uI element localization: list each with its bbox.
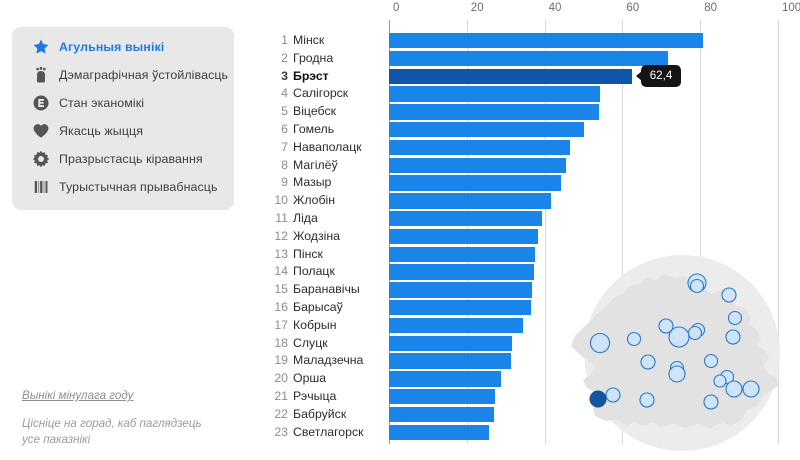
row-bar[interactable] — [389, 69, 632, 84]
row-bar[interactable] — [389, 282, 532, 297]
previous-year-link[interactable]: Вынікі мінулага году — [22, 389, 133, 402]
x-tick-label: 60 — [626, 2, 639, 14]
map-dot[interactable] — [640, 393, 654, 407]
row-bar[interactable] — [389, 371, 501, 386]
sidebar-item-label: Якасць жыцця — [59, 124, 143, 138]
row-bar[interactable] — [389, 300, 531, 315]
row-rank: 22 — [262, 406, 288, 424]
row-bar[interactable] — [389, 336, 512, 351]
row-city-name: Магілёў — [293, 157, 338, 175]
chart-row[interactable]: 12Жодзіна — [262, 228, 800, 246]
row-city-name: Баранавічы — [293, 281, 360, 299]
sidebar-item-label: Агульныя вынікі — [59, 40, 164, 54]
value-tooltip: 62,4 — [641, 65, 682, 87]
sidebar-item-label: Турыстычная прывабнасць — [59, 180, 218, 194]
sidebar-nav: Агульныя вынікіДэмаграфічная ўстойлівасц… — [12, 27, 234, 201]
row-rank: 9 — [262, 174, 288, 192]
row-bar[interactable] — [389, 211, 542, 226]
row-bar[interactable] — [389, 389, 495, 404]
sidebar-item-quality[interactable]: Якасць жыцця — [12, 117, 234, 145]
click-city-hint: Ціснiце на горад, каб паглядзець усе пак… — [22, 416, 212, 447]
row-rank: 10 — [262, 192, 288, 210]
x-tick-label: 20 — [471, 2, 484, 14]
map-dot[interactable] — [641, 355, 655, 369]
map-dot[interactable] — [628, 333, 641, 346]
star-icon — [31, 38, 50, 57]
sidebar-item-label: Стан эканомікі — [59, 96, 144, 110]
row-city-name: Наваполацк — [293, 139, 362, 157]
row-bar[interactable] — [389, 247, 535, 262]
row-city-name: Светлагорск — [293, 424, 364, 442]
x-axis-ticks: 020406080100 — [389, 0, 800, 20]
map-dot[interactable] — [705, 355, 718, 368]
row-city-name: Віцебск — [293, 103, 336, 121]
map-svg — [565, 250, 800, 460]
columns-icon — [31, 178, 50, 197]
row-city-name: Брэст — [293, 68, 329, 86]
row-rank: 4 — [262, 85, 288, 103]
economy-e-icon — [31, 94, 50, 113]
row-rank: 12 — [262, 228, 288, 246]
map-dot[interactable] — [714, 375, 726, 387]
row-rank: 17 — [262, 317, 288, 335]
sidebar-item-governance[interactable]: Празрыстасць кіравання — [12, 145, 234, 173]
row-bar[interactable] — [389, 51, 668, 66]
x-tick-label: 0 — [393, 2, 399, 14]
chart-row[interactable]: 7Наваполацк — [262, 139, 800, 157]
map-dot[interactable] — [726, 330, 740, 344]
row-rank: 5 — [262, 103, 288, 121]
heart-icon — [31, 122, 50, 141]
row-rank: 14 — [262, 263, 288, 281]
map-dot[interactable] — [669, 327, 689, 347]
row-bar[interactable] — [389, 407, 494, 422]
row-rank: 13 — [262, 246, 288, 264]
x-tick-label: 100 — [782, 2, 800, 14]
map-dot[interactable] — [691, 280, 704, 293]
map-dot[interactable] — [591, 334, 610, 353]
row-bar[interactable] — [389, 425, 489, 440]
row-city-name: Кобрын — [293, 317, 337, 335]
row-city-name: Жлобін — [293, 192, 335, 210]
chart-row[interactable]: 9Мазыр — [262, 174, 800, 192]
row-rank: 20 — [262, 370, 288, 388]
people-icon — [31, 66, 50, 85]
row-bar[interactable] — [389, 318, 523, 333]
chart-row[interactable]: 3Брэст — [262, 68, 800, 86]
row-bar[interactable] — [389, 229, 538, 244]
row-city-name: Слуцк — [293, 335, 328, 353]
map-dot[interactable] — [689, 327, 702, 340]
row-rank: 15 — [262, 281, 288, 299]
row-bar[interactable] — [389, 158, 566, 173]
map-dot[interactable] — [743, 381, 759, 397]
sidebar-item-tourism[interactable]: Турыстычная прывабнасць — [12, 173, 234, 201]
row-rank: 6 — [262, 121, 288, 139]
row-rank: 8 — [262, 157, 288, 175]
row-city-name: Полацк — [293, 263, 335, 281]
row-bar[interactable] — [389, 193, 551, 208]
tooltip-arrow — [636, 71, 642, 81]
row-city-name: Ліда — [293, 210, 318, 228]
row-rank: 2 — [262, 50, 288, 68]
sidebar-footer: Вынікі мінулага году Ціснiце на горад, к… — [22, 386, 237, 447]
chart-row[interactable]: 10Жлобін — [262, 192, 800, 210]
map-dot[interactable] — [704, 395, 718, 409]
chart-row[interactable]: 5Віцебск — [262, 103, 800, 121]
row-city-name: Мінск — [293, 32, 324, 50]
row-rank: 23 — [262, 424, 288, 442]
chart-row[interactable]: 6Гомель — [262, 121, 800, 139]
row-city-name: Салігорск — [293, 85, 348, 103]
row-bar[interactable] — [389, 122, 584, 137]
row-bar[interactable] — [389, 33, 703, 48]
row-city-name: Барысаў — [293, 299, 343, 317]
map-dot[interactable] — [729, 312, 742, 325]
map-dot[interactable] — [722, 288, 736, 302]
row-city-name: Жодзіна — [293, 228, 340, 246]
map-dot[interactable] — [726, 381, 742, 397]
chart-row[interactable]: 4Салігорск — [262, 85, 800, 103]
row-bar[interactable] — [389, 353, 511, 368]
map-dot[interactable] — [606, 388, 620, 402]
row-rank: 21 — [262, 388, 288, 406]
row-rank: 18 — [262, 335, 288, 353]
row-bar[interactable] — [389, 104, 599, 119]
row-bar[interactable] — [389, 140, 570, 155]
x-tick-label: 40 — [549, 2, 562, 14]
row-city-name: Мазыр — [293, 174, 331, 192]
chart-row[interactable]: 8Магілёў — [262, 157, 800, 175]
chart-row[interactable]: 11Ліда — [262, 210, 800, 228]
row-bar[interactable] — [389, 264, 534, 279]
row-rank: 19 — [262, 352, 288, 370]
x-tick-label: 80 — [704, 2, 717, 14]
sidebar-item-demography[interactable]: Дэмаграфічная ўстойлівасць — [12, 61, 234, 89]
map-dot-selected[interactable] — [590, 391, 606, 407]
chart-row[interactable]: 1Мінск — [262, 32, 800, 50]
sidebar-panel: Агульныя вынікіДэмаграфічная ўстойлівасц… — [12, 27, 234, 210]
row-rank: 11 — [262, 210, 288, 228]
sidebar-item-overall[interactable]: Агульныя вынікі — [12, 33, 234, 61]
gear-icon — [31, 150, 50, 169]
row-rank: 16 — [262, 299, 288, 317]
row-rank: 7 — [262, 139, 288, 157]
row-rank: 1 — [262, 32, 288, 50]
row-bar[interactable] — [389, 86, 600, 101]
row-city-name: Бабруйск — [293, 406, 346, 424]
belarus-map[interactable] — [565, 250, 800, 460]
chart-row[interactable]: 2Гродна — [262, 50, 800, 68]
row-city-name: Гродна — [293, 50, 333, 68]
app-root: Агульныя вынікіДэмаграфічная ўстойлівасц… — [0, 0, 800, 460]
tooltip-value: 62,4 — [650, 69, 673, 82]
map-dot[interactable] — [669, 366, 685, 382]
row-bar[interactable] — [389, 175, 561, 190]
sidebar-item-label: Празрыстасць кіравання — [59, 152, 203, 166]
row-city-name: Пінск — [293, 246, 323, 264]
row-city-name: Маладзечна — [293, 352, 363, 370]
sidebar-item-economy[interactable]: Стан эканомікі — [12, 89, 234, 117]
row-city-name: Гомель — [293, 121, 334, 139]
row-city-name: Орша — [293, 370, 326, 388]
row-city-name: Рэчыца — [293, 388, 336, 406]
sidebar-item-label: Дэмаграфічная ўстойлівасць — [59, 68, 228, 82]
row-rank: 3 — [262, 68, 288, 86]
